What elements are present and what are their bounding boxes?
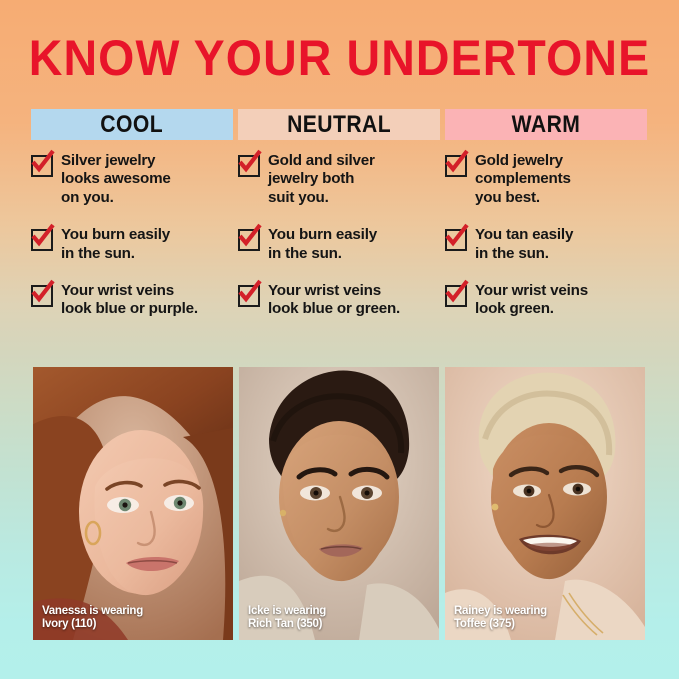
checklist-item[interactable]: Gold jewelry complements you best. bbox=[445, 152, 647, 207]
checklist-item[interactable]: Silver jewelry looks awesome on you. bbox=[31, 152, 233, 207]
checklist-warm: Gold jewelry complements you best. You t… bbox=[445, 152, 647, 319]
photo-rainey: Rainey is wearing Toffee (375) bbox=[445, 367, 645, 640]
checklist-item-text: Your wrist veins look blue or purple. bbox=[61, 282, 198, 319]
checklist-item[interactable]: You burn easily in the sun. bbox=[238, 226, 440, 263]
checklist-item[interactable]: Your wrist veins look green. bbox=[445, 282, 647, 319]
checklist-item[interactable]: You tan easily in the sun. bbox=[445, 226, 647, 263]
checklist-item[interactable]: Your wrist veins look blue or green. bbox=[238, 282, 440, 319]
checkbox-warm-2[interactable] bbox=[445, 229, 467, 251]
model-photos: Vanessa is wearing Ivory (110) bbox=[33, 367, 647, 640]
column-header-neutral: NEUTRAL bbox=[238, 109, 440, 140]
checklist-item-text: Your wrist veins look green. bbox=[475, 282, 588, 319]
checklist-item-text: Gold jewelry complements you best. bbox=[475, 152, 571, 207]
column-header-cool: COOL bbox=[31, 109, 233, 140]
check-icon bbox=[29, 278, 57, 306]
checkbox-cool-1[interactable] bbox=[31, 155, 53, 177]
column-neutral: NEUTRAL Gold and silver jewelry both sui… bbox=[238, 109, 440, 338]
column-warm: WARM Gold jewelry complements you best. bbox=[445, 109, 647, 338]
check-icon bbox=[443, 222, 471, 250]
checklist-cool: Silver jewelry looks awesome on you. You… bbox=[31, 152, 233, 319]
portrait-image-rainey bbox=[445, 367, 645, 640]
column-cool: COOL Silver jewelry looks awesome on you… bbox=[31, 109, 233, 338]
checkbox-neutral-1[interactable] bbox=[238, 155, 260, 177]
page-title: KNOW YOUR UNDERTONE bbox=[24, 32, 655, 84]
checkbox-neutral-3[interactable] bbox=[238, 285, 260, 307]
photo-caption-icke: Icke is wearing Rich Tan (350) bbox=[248, 605, 326, 631]
column-header-label-cool: COOL bbox=[101, 111, 164, 139]
checkbox-warm-3[interactable] bbox=[445, 285, 467, 307]
checkbox-cool-3[interactable] bbox=[31, 285, 53, 307]
checklist-item[interactable]: Your wrist veins look blue or purple. bbox=[31, 282, 233, 319]
checklist-item-text: You burn easily in the sun. bbox=[61, 226, 170, 263]
photo-vanessa: Vanessa is wearing Ivory (110) bbox=[33, 367, 233, 640]
checkbox-neutral-2[interactable] bbox=[238, 229, 260, 251]
check-icon bbox=[29, 148, 57, 176]
checklist-item-text: Your wrist veins look blue or green. bbox=[268, 282, 400, 319]
check-icon bbox=[236, 222, 264, 250]
checkbox-cool-2[interactable] bbox=[31, 229, 53, 251]
portrait-image-icke bbox=[239, 367, 439, 640]
check-icon bbox=[443, 148, 471, 176]
checkbox-warm-1[interactable] bbox=[445, 155, 467, 177]
column-header-warm: WARM bbox=[445, 109, 647, 140]
checklist-item-text: You tan easily in the sun. bbox=[475, 226, 573, 263]
check-icon bbox=[236, 148, 264, 176]
undertone-columns: COOL Silver jewelry looks awesome on you… bbox=[31, 109, 648, 338]
checklist-item-text: You burn easily in the sun. bbox=[268, 226, 377, 263]
check-icon bbox=[236, 278, 264, 306]
photo-caption-vanessa: Vanessa is wearing Ivory (110) bbox=[42, 605, 143, 631]
photo-caption-rainey: Rainey is wearing Toffee (375) bbox=[454, 605, 547, 631]
photo-icke: Icke is wearing Rich Tan (350) bbox=[239, 367, 439, 640]
column-header-label-neutral: NEUTRAL bbox=[287, 111, 391, 139]
checklist-neutral: Gold and silver jewelry both suit you. Y… bbox=[238, 152, 440, 319]
checklist-item[interactable]: Gold and silver jewelry both suit you. bbox=[238, 152, 440, 207]
checklist-item-text: Silver jewelry looks awesome on you. bbox=[61, 152, 171, 207]
column-header-label-warm: WARM bbox=[512, 111, 581, 139]
check-icon bbox=[443, 278, 471, 306]
checklist-item-text: Gold and silver jewelry both suit you. bbox=[268, 152, 375, 207]
check-icon bbox=[29, 222, 57, 250]
undertone-infographic: KNOW YOUR UNDERTONE COOL Silver jewelry … bbox=[0, 0, 679, 679]
checklist-item[interactable]: You burn easily in the sun. bbox=[31, 226, 233, 263]
portrait-image-vanessa bbox=[33, 367, 233, 640]
